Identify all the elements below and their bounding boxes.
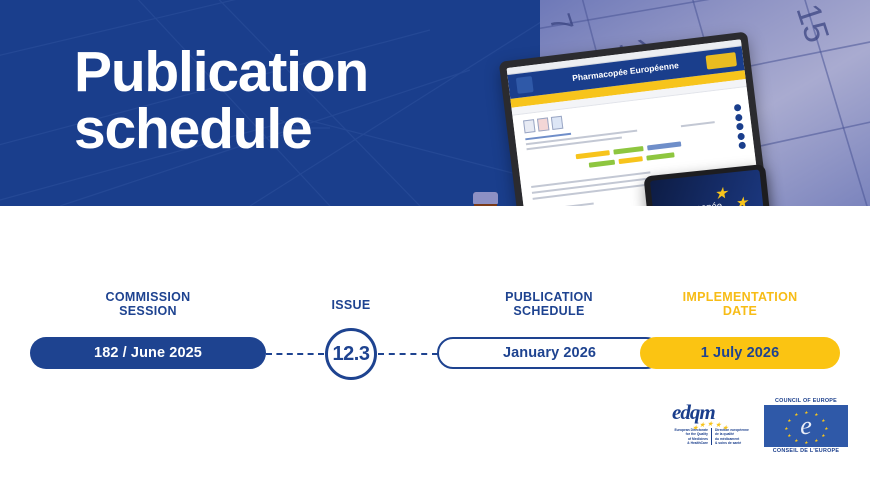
timeline-value-issue[interactable]: 12.3 bbox=[325, 328, 377, 380]
edqm-tagline-en: European Directorate for the Quality of … bbox=[668, 428, 708, 445]
rating-dots bbox=[734, 104, 747, 152]
timeline-value-commission-session[interactable]: 182 / June 2025 bbox=[30, 337, 266, 369]
header-band: 7 14 15 20 Publication schedule Pharmaco… bbox=[0, 0, 870, 206]
edqm-tagline-fr: Direction européenne de la qualité du mé… bbox=[711, 428, 752, 445]
edqm-tagline: European Directorate for the Quality of … bbox=[668, 428, 752, 445]
vial bbox=[474, 192, 497, 206]
star-icon: ★ bbox=[713, 183, 729, 204]
edqm-logo-icon bbox=[706, 52, 737, 70]
timeline-label-issue: ISSUE bbox=[300, 298, 402, 312]
timeline-value-publication-schedule[interactable]: January 2026 bbox=[437, 337, 662, 369]
timeline-label-commission-session: COMMISSION SESSION bbox=[78, 290, 218, 318]
timeline-label-publication-schedule: PUBLICATION SCHEDULE bbox=[478, 290, 620, 318]
page-title: Publication schedule bbox=[74, 44, 368, 158]
coe-top-text: COUNCIL OF EUROPE bbox=[764, 398, 848, 404]
coe-logo-icon bbox=[516, 76, 534, 94]
publication-schedule-infographic: 7 14 15 20 Publication schedule Pharmaco… bbox=[0, 0, 870, 489]
footer-logos: edqm ★ ★ ★ ★ ★ European Directorate for … bbox=[668, 398, 850, 460]
edqm-logo: edqm ★ ★ ★ ★ ★ European Directorate for … bbox=[668, 398, 752, 458]
council-of-europe-logo: COUNCIL OF EUROPE e ★ ★ ★ ★ ★ ★ ★ ★ ★ ★ … bbox=[764, 398, 848, 456]
timeline-connector bbox=[266, 353, 324, 355]
star-icon: ★ bbox=[734, 193, 749, 206]
coe-flag: e ★ ★ ★ ★ ★ ★ ★ ★ ★ ★ ★ ★ bbox=[764, 405, 848, 447]
timeline-label-implementation-date: IMPLEMENTATION DATE bbox=[655, 290, 825, 318]
timeline-connector bbox=[378, 353, 438, 355]
timeline-value-implementation-date[interactable]: 1 July 2026 bbox=[640, 337, 840, 369]
device-artwork: Pharmacopée Européenne bbox=[452, 10, 870, 206]
reference-standard-vials bbox=[460, 186, 572, 206]
coe-bottom-text: CONSEIL DE L'EUROPE bbox=[764, 448, 848, 454]
